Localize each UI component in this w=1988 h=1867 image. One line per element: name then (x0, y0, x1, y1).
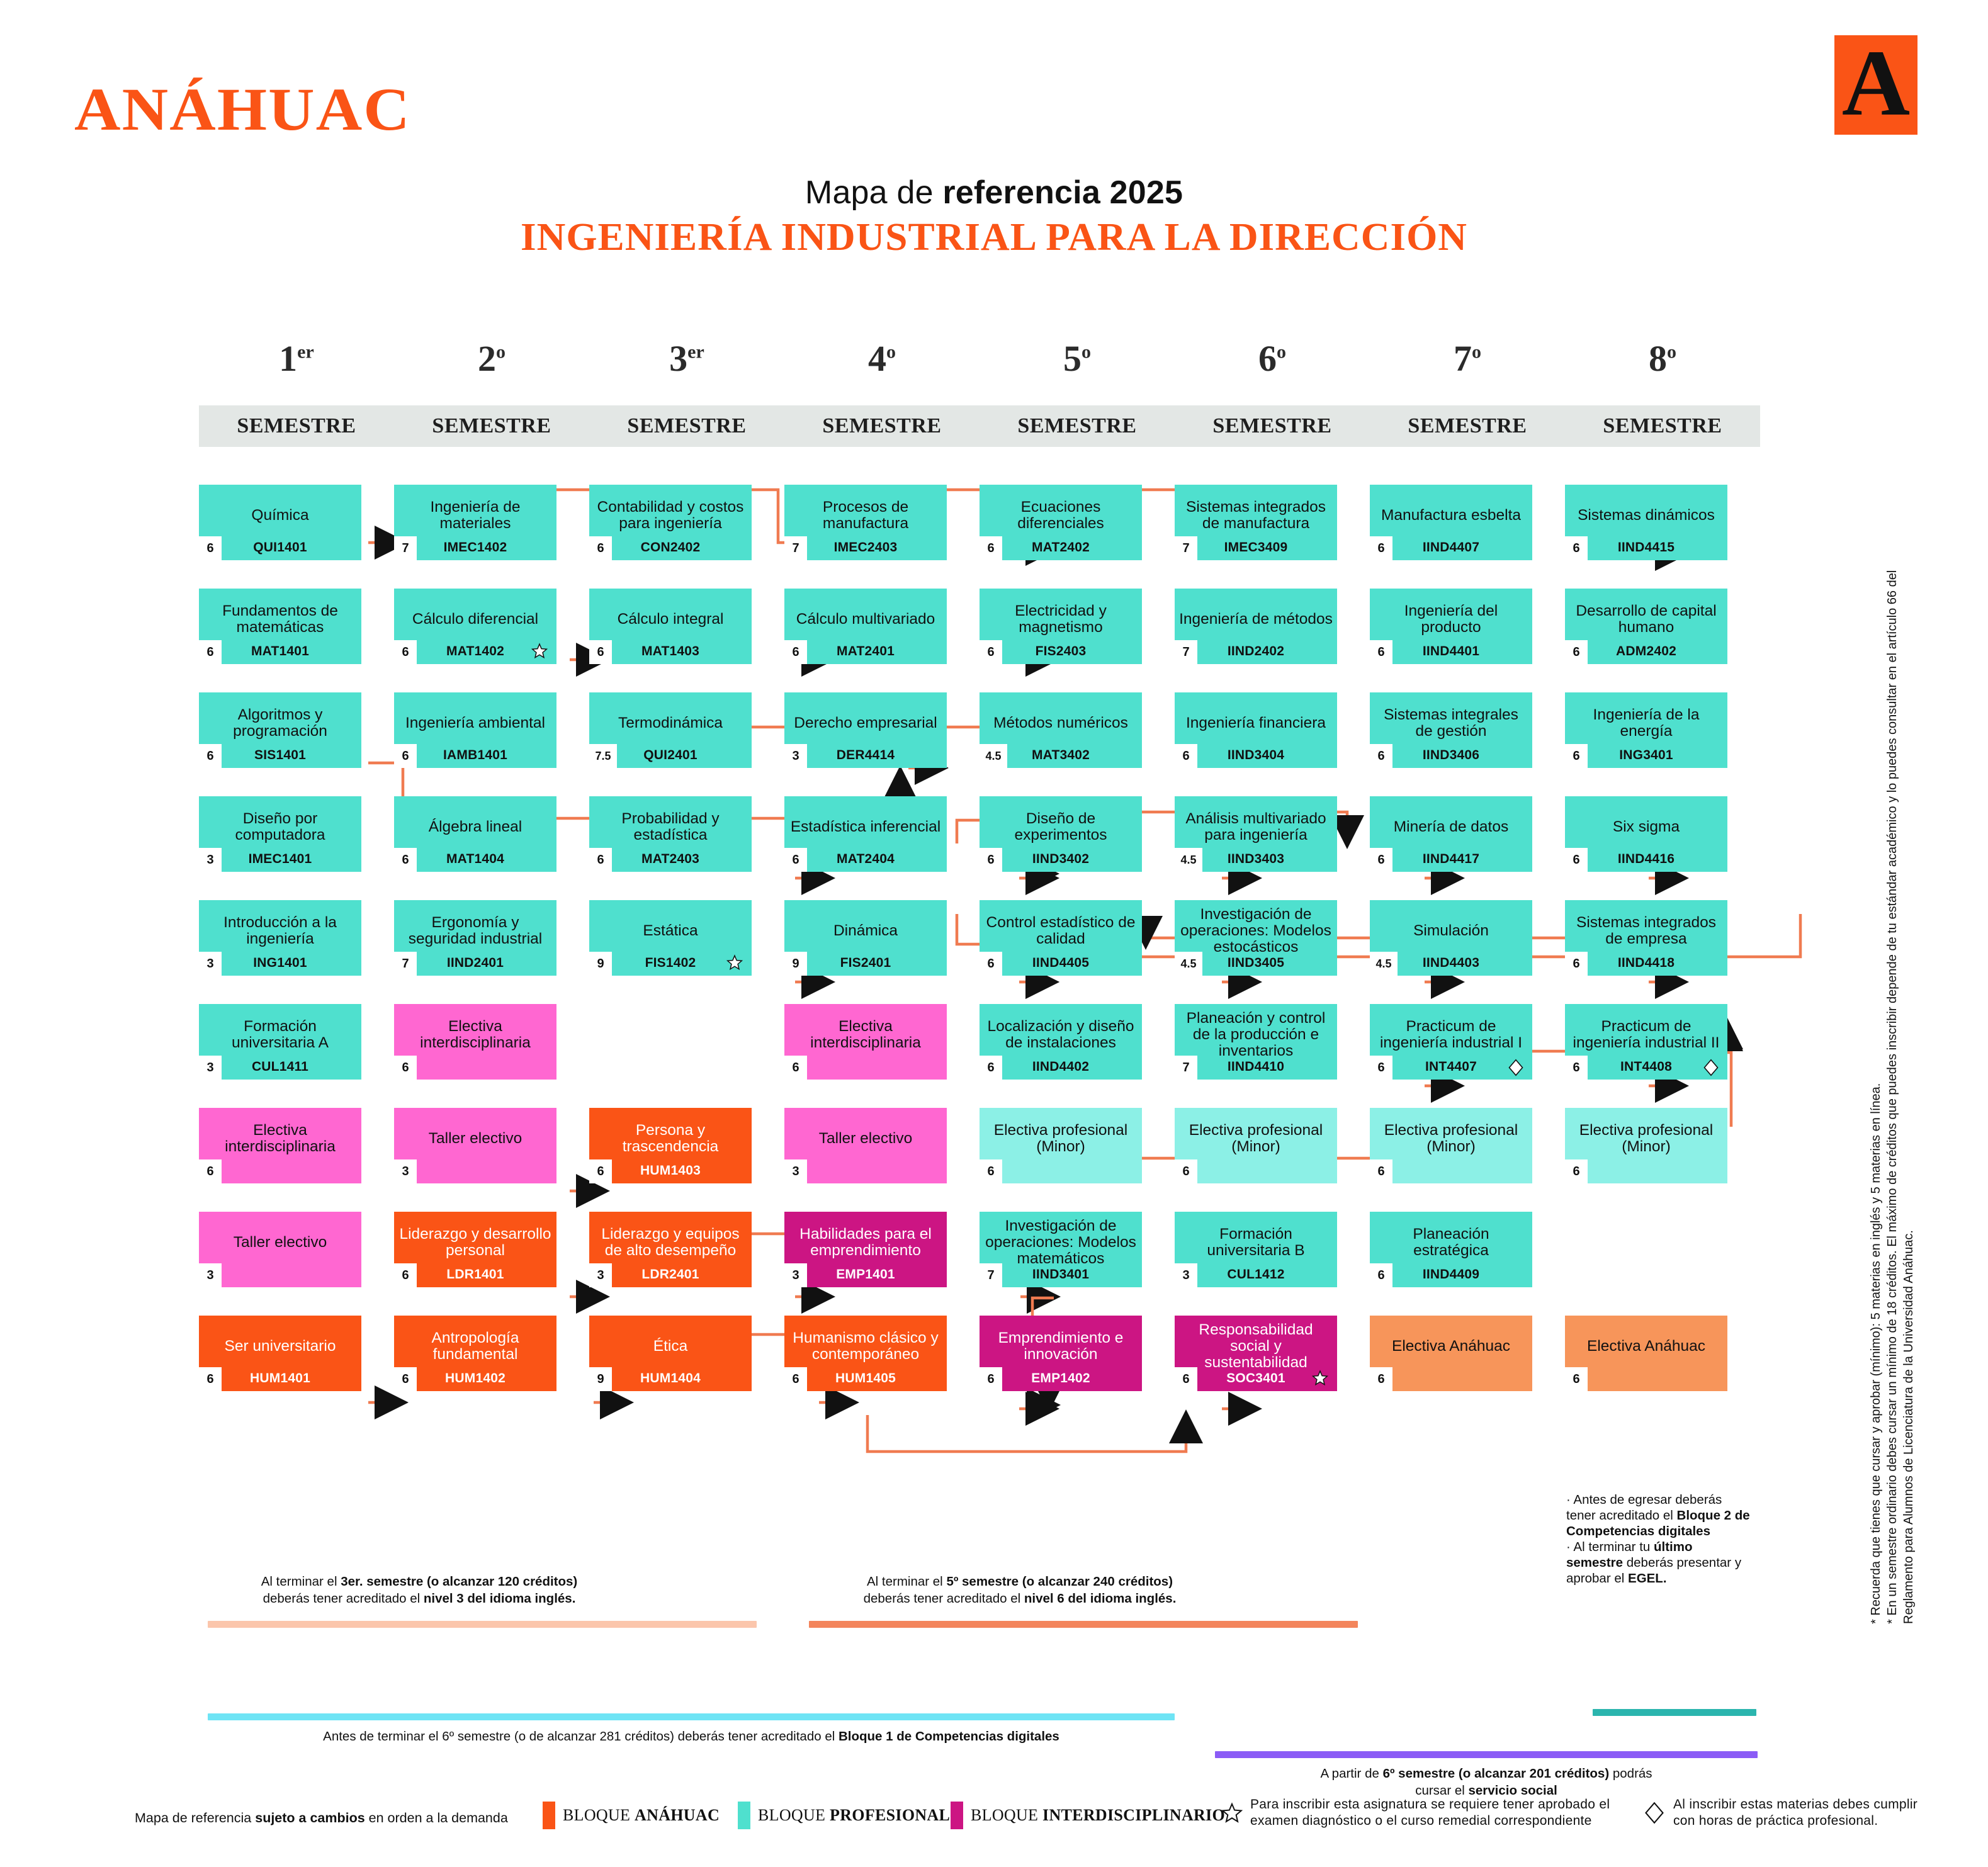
course-card-imec2403[interactable]: Procesos de manufacturaIMEC24037 (784, 485, 947, 560)
legend-diamond-text: Al inscribir estas materias debes cumpli… (1673, 1796, 1917, 1829)
course-credits: 6 (1175, 744, 1197, 768)
course-name: Sistemas integrados de manufactura (1178, 499, 1333, 532)
title-subtitle-bold: referencia 2025 (942, 174, 1183, 211)
semester-label-4: SEMESTRE (784, 405, 980, 447)
course-card-emp1401[interactable]: Habilidades para el emprendimientoEMP140… (784, 1212, 947, 1287)
course-credits: 3 (784, 744, 807, 768)
course-code: IIND4401 (1370, 644, 1532, 659)
course-credits: 7 (1175, 536, 1197, 560)
course-card-iind4402[interactable]: Localización y diseño de instalacionesII… (980, 1004, 1142, 1080)
course-name: Probabilidad y estadística (593, 811, 748, 843)
semester-number-value: 7 (1454, 338, 1472, 379)
course-card-iind4401[interactable]: Ingeniería del productoIIND44016 (1370, 589, 1532, 664)
course-code: MAT2402 (980, 540, 1142, 555)
legend-item-1: BLOQUE PROFESIONAL (738, 1802, 950, 1829)
course-card-iind2402[interactable]: Ingeniería de métodosIIND24027 (1175, 589, 1337, 664)
course-code: IIND2401 (394, 956, 556, 971)
legend-label-bold: INTERDISCIPLINARIO (1042, 1806, 1225, 1824)
course-card-iind4409[interactable]: Planeación estratégicaIIND44096 (1370, 1212, 1532, 1287)
course-credits: 6 (784, 1367, 807, 1391)
course-code: EMP1401 (784, 1267, 947, 1282)
course-code: CUL1412 (1175, 1267, 1337, 1282)
course-name: Practicum de ingeniería industrial I (1374, 1018, 1528, 1051)
course-credits: 3 (199, 1263, 222, 1287)
course-card-hum1404[interactable]: ÉticaHUM14049 (589, 1316, 752, 1391)
semester-number-1: 1er (199, 337, 394, 380)
course-code: LDR1401 (394, 1267, 556, 1282)
course-credits: 6 (980, 536, 1002, 560)
course-name: Ingeniería del producto (1374, 603, 1528, 636)
digital-block1-note: Antes de terminar el 6º semestre (o de a… (208, 1729, 1175, 1746)
course-code: CON2402 (589, 540, 752, 555)
semester-number-value: 4 (868, 338, 886, 379)
course-credits: 6 (589, 1159, 612, 1183)
course-card-electiva[interactable]: Electiva interdisciplinaria6 (394, 1004, 556, 1080)
course-credits: 7.5 (589, 744, 617, 768)
course-code: IIND3404 (1175, 748, 1337, 763)
course-card-emp1402[interactable]: Emprendimiento e innovaciónEMP14026 (980, 1316, 1142, 1391)
course-credits: 6 (784, 640, 807, 664)
course-name: Antropología fundamental (398, 1330, 553, 1363)
logo-letter: A (1842, 36, 1910, 130)
course-card-con2402[interactable]: Contabilidad y costos para ingenieríaCON… (589, 485, 752, 560)
servicio-social-bar (1215, 1751, 1758, 1758)
course-credits: 6 (589, 640, 612, 664)
course-card-ing3401[interactable]: Ingeniería de la energíaING34016 (1565, 692, 1727, 768)
egel-b2-plain: · Al terminar tu (1566, 1540, 1654, 1554)
anahuac-logo: A (1834, 35, 1917, 135)
course-code: IIND3401 (980, 1267, 1142, 1282)
semester-number-7: 7o (1370, 337, 1565, 380)
course-name: Manufactura esbelta (1374, 507, 1528, 524)
course-name: Diseño por computadora (203, 811, 358, 843)
course-card-cul1412[interactable]: Formación universitaria BCUL14123 (1175, 1212, 1337, 1287)
course-card-mat1402[interactable]: Cálculo diferencialMAT14026 (394, 589, 556, 664)
course-card-electiva[interactable]: Electiva profesional (Minor)6 (1175, 1108, 1337, 1183)
course-name: Estadística inferencial (788, 819, 943, 835)
course-name: Electricidad y magnetismo (983, 603, 1138, 636)
course-card-electiva[interactable]: Electiva Anáhuac6 (1565, 1316, 1727, 1391)
course-credits: 6 (1370, 640, 1392, 664)
course-card-qui2401[interactable]: TermodinámicaQUI24017.5 (589, 692, 752, 768)
course-credits: 6 (199, 1367, 222, 1391)
course-name: Ingeniería ambiental (398, 715, 553, 731)
course-card-electiva[interactable]: Taller electivo3 (199, 1212, 361, 1287)
course-name: Simulación (1374, 923, 1528, 939)
course-card-mat3402[interactable]: Métodos numéricosMAT34024.5 (980, 692, 1142, 768)
practice-hours-diamond-icon (1507, 1058, 1523, 1075)
semester-label-6: SEMESTRE (1175, 405, 1370, 447)
course-name: Six sigma (1569, 819, 1724, 835)
course-credits: 3 (199, 952, 222, 976)
course-credits: 6 (1175, 1367, 1197, 1391)
course-code: ADM2402 (1565, 644, 1727, 659)
course-name: Electiva interdisciplinaria (398, 1018, 553, 1051)
semester-label-5: SEMESTRE (980, 405, 1175, 447)
english6-line2-plain: deberás tener acreditado el (864, 1591, 1024, 1606)
course-code: MAT1401 (199, 644, 361, 659)
course-credits: 6 (199, 536, 222, 560)
vertical-note-line-1: * Recuerda que tienes que cursar y aprob… (1869, 1083, 1884, 1624)
course-credits: 6 (1565, 952, 1588, 976)
english3-line1-bold: 3er. semestre (o alcanzar 120 créditos) (341, 1574, 577, 1589)
course-credits: 6 (394, 1056, 417, 1080)
course-name: Ingeniería de materiales (398, 499, 553, 532)
course-card-iind4418[interactable]: Sistemas integrados de empresaIIND44186 (1565, 900, 1727, 976)
course-code: FIS2403 (980, 644, 1142, 659)
course-credits: 6 (1565, 744, 1588, 768)
course-credits: 6 (1370, 1367, 1392, 1391)
course-name: Electiva interdisciplinaria (203, 1122, 358, 1155)
digital1-plain: Antes de terminar el 6º semestre (o de a… (323, 1729, 839, 1744)
course-credits: 6 (1370, 1159, 1392, 1183)
course-credits: 6 (1370, 1263, 1392, 1287)
semester-ordinal-suffix: o (1667, 342, 1676, 363)
course-card-hum1402[interactable]: Antropología fundamentalHUM14026 (394, 1316, 556, 1391)
semester-ordinal-suffix: er (687, 342, 704, 363)
course-name: Taller electivo (203, 1234, 358, 1251)
course-credits: 6 (784, 1056, 807, 1080)
course-card-ing1401[interactable]: Introducción a la ingenieríaING14013 (199, 900, 361, 976)
course-code: IIND3402 (980, 852, 1142, 867)
semester-ordinal-suffix: o (886, 342, 896, 363)
semester-number-6: 6o (1175, 337, 1370, 380)
course-code: MAT1404 (394, 852, 556, 867)
legend-label-plain: BLOQUE (758, 1806, 830, 1824)
course-code: HUM1403 (589, 1163, 752, 1178)
course-card-electiva[interactable]: Taller electivo3 (784, 1108, 947, 1183)
legend-item-0: BLOQUE ANÁHUAC (543, 1802, 720, 1829)
servicio-line1-tail: podrás (1609, 1766, 1652, 1781)
course-code: IIND4416 (1565, 852, 1727, 867)
course-name: Algoritmos y programación (203, 707, 358, 740)
semester-ordinal-suffix: o (1277, 342, 1286, 363)
legend-item-2: BLOQUE INTERDISCIPLINARIO (951, 1802, 1225, 1829)
course-card-electiva[interactable]: Electiva profesional (Minor)6 (1565, 1108, 1727, 1183)
course-name: Electiva profesional (Minor) (1374, 1122, 1528, 1155)
course-name: Taller electivo (788, 1131, 943, 1147)
practice-hours-diamond-icon (1702, 1058, 1719, 1075)
course-card-iind4417[interactable]: Minería de datosIIND44176 (1370, 796, 1532, 872)
course-name: Electiva profesional (Minor) (1178, 1122, 1333, 1155)
course-code: IIND4418 (1565, 956, 1727, 971)
legend-star-note: Para inscribir esta asignatura se requie… (1221, 1796, 1610, 1829)
course-card-iind3406[interactable]: Sistemas integrales de gestiónIIND34066 (1370, 692, 1532, 768)
course-code: HUM1402 (394, 1371, 556, 1386)
course-name: Ergonomía y seguridad industrial (398, 915, 553, 947)
course-credits: 6 (589, 848, 612, 872)
course-card-qui1401[interactable]: QuímicaQUI14016 (199, 485, 361, 560)
course-name: Sistemas integrales de gestión (1374, 707, 1528, 740)
semester-number-value: 3 (669, 338, 687, 379)
course-card-mat2402[interactable]: Ecuaciones diferencialesMAT24026 (980, 485, 1142, 560)
legend-star-text: Para inscribir esta asignatura se requie… (1250, 1796, 1610, 1829)
course-card-iind4416[interactable]: Six sigmaIIND44166 (1565, 796, 1727, 872)
course-name: Cálculo multivariado (788, 611, 943, 628)
course-name: Fundamentos de matemáticas (203, 603, 358, 636)
course-credits: 4.5 (1175, 952, 1202, 976)
course-code: IIND4402 (980, 1059, 1142, 1075)
legend-label-bold: ANÁHUAC (635, 1806, 720, 1824)
course-credits: 3 (394, 1159, 417, 1183)
course-code: IMEC2403 (784, 540, 947, 555)
course-card-fis2401[interactable]: DinámicaFIS24019 (784, 900, 947, 976)
course-card-hum1401[interactable]: Ser universitarioHUM14016 (199, 1316, 361, 1391)
course-name: Sistemas dinámicos (1569, 507, 1724, 524)
semester-ordinal-suffix: o (496, 342, 505, 363)
servicio-line2-bold: servicio social (1469, 1783, 1557, 1798)
course-card-mat1403[interactable]: Cálculo integralMAT14036 (589, 589, 752, 664)
course-code: ING1401 (199, 956, 361, 971)
course-code: MAT2403 (589, 852, 752, 867)
course-credits: 3 (784, 1263, 807, 1287)
course-code: IIND2402 (1175, 644, 1337, 659)
course-credits: 6 (1565, 1159, 1588, 1183)
course-credits: 6 (394, 640, 417, 664)
course-code: IAMB1401 (394, 748, 556, 763)
course-credits: 6 (1565, 536, 1588, 560)
semester-number-4: 4o (784, 337, 980, 380)
course-card-electiva[interactable]: Electiva interdisciplinaria6 (784, 1004, 947, 1080)
course-card-hum1403[interactable]: Persona y trascendenciaHUM14036 (589, 1108, 752, 1183)
course-card-soc3401[interactable]: Responsabilidad social y sustentabilidad… (1175, 1316, 1337, 1391)
legend-swatch (738, 1802, 750, 1829)
semester-numbers: 1er2o3er4o5o6o7o8o (199, 337, 1760, 388)
course-name: Ingeniería de la energía (1569, 707, 1724, 740)
course-code: IMEC1401 (199, 852, 361, 867)
course-card-iind4403[interactable]: SimulaciónIIND44034.5 (1370, 900, 1532, 976)
title-program: INGENIERÍA INDUSTRIAL PARA LA DIRECCIÓN (0, 215, 1988, 260)
course-card-adm2402[interactable]: Desarrollo de capital humanoADM24026 (1565, 589, 1727, 664)
semester-number-value: 8 (1649, 338, 1667, 379)
course-code: HUM1404 (589, 1371, 752, 1386)
digital-block1-bar (208, 1713, 1175, 1720)
course-card-mat2404[interactable]: Estadística inferencialMAT24046 (784, 796, 947, 872)
servicio-line1-plain: A partir de (1320, 1766, 1382, 1781)
course-code: FIS2401 (784, 956, 947, 971)
course-name: Liderazgo y desarrollo personal (398, 1226, 553, 1259)
course-card-iind4407[interactable]: Manufactura esbeltaIIND44076 (1370, 485, 1532, 560)
course-name: Planeación y control de la producción e … (1178, 1010, 1333, 1059)
course-card-ldr2401[interactable]: Liderazgo y equipos de alto desempeñoLDR… (589, 1212, 752, 1287)
course-credits: 6 (199, 744, 222, 768)
course-name: Electiva Anáhuac (1569, 1338, 1724, 1355)
course-card-ldr1401[interactable]: Liderazgo y desarrollo personalLDR14016 (394, 1212, 556, 1287)
academic-standard-disclaimer: * Recuerda que tienes que cursar y aprob… (1884, 327, 1959, 1624)
course-code: EMP1402 (980, 1371, 1142, 1386)
semester-number-2: 2o (394, 337, 589, 380)
course-name: Diseño de experimentos (983, 811, 1138, 843)
course-card-electiva[interactable]: Electiva profesional (Minor)6 (1370, 1108, 1532, 1183)
course-credits: 6 (980, 848, 1002, 872)
course-card-iind4410[interactable]: Planeación y control de la producción e … (1175, 1004, 1337, 1080)
course-name: Electiva profesional (Minor) (1569, 1122, 1724, 1155)
course-name: Responsabilidad social y sustentabilidad (1178, 1322, 1333, 1371)
course-card-der4414[interactable]: Derecho empresarialDER44143 (784, 692, 947, 768)
digital1-bold: Bloque 1 de Competencias digitales (839, 1729, 1059, 1744)
course-card-sis1401[interactable]: Algoritmos y programaciónSIS14016 (199, 692, 361, 768)
course-credits: 4.5 (980, 744, 1007, 768)
english3-line2-plain: deberás tener acreditado el (263, 1591, 424, 1606)
course-name: Minería de datos (1374, 819, 1528, 835)
course-name: Dinámica (788, 923, 943, 939)
course-code: MAT1403 (589, 644, 752, 659)
course-card-iind3401[interactable]: Investigación de operaciones: Modelos ma… (980, 1212, 1142, 1287)
course-card-mat2401[interactable]: Cálculo multivariadoMAT24016 (784, 589, 947, 664)
course-credits: 6 (980, 1056, 1002, 1080)
course-name: Electiva Anáhuac (1374, 1338, 1528, 1355)
course-name: Desarrollo de capital humano (1569, 603, 1724, 636)
course-credits: 4.5 (1370, 952, 1398, 976)
course-card-cul1411[interactable]: Formación universitaria ACUL14113 (199, 1004, 361, 1080)
course-name: Persona y trascendencia (593, 1122, 748, 1155)
course-card-int4407[interactable]: Practicum de ingeniería industrial IINT4… (1370, 1004, 1532, 1080)
course-credits: 6 (980, 952, 1002, 976)
english3-line2-bold: nivel 3 del idioma inglés. (424, 1591, 576, 1606)
course-card-iind3404[interactable]: Ingeniería financieraIIND34046 (1175, 692, 1337, 768)
course-card-iind3405[interactable]: Investigación de operaciones: Modelos es… (1175, 900, 1337, 976)
course-card-mat1401[interactable]: Fundamentos de matemáticasMAT14016 (199, 589, 361, 664)
course-card-mat1404[interactable]: Álgebra linealMAT14046 (394, 796, 556, 872)
course-name: Estática (593, 923, 748, 939)
course-card-iind3403[interactable]: Análisis multivariado para ingenieríaIIN… (1175, 796, 1337, 872)
semester-ordinal-suffix: o (1082, 342, 1091, 363)
course-credits: 6 (980, 1159, 1002, 1183)
course-credits: 6 (1175, 1159, 1197, 1183)
course-name: Contabilidad y costos para ingeniería (593, 499, 748, 532)
course-credits: 6 (199, 640, 222, 664)
semester-number-value: 6 (1258, 338, 1277, 379)
course-card-fis2403[interactable]: Electricidad y magnetismoFIS24036 (980, 589, 1142, 664)
course-code: IIND4415 (1565, 540, 1727, 555)
course-code: ING3401 (1565, 748, 1727, 763)
course-card-imec1401[interactable]: Diseño por computadoraIMEC14013 (199, 796, 361, 872)
course-name: Ecuaciones diferenciales (983, 499, 1138, 532)
course-credits: 6 (1370, 744, 1392, 768)
course-credits: 3 (784, 1159, 807, 1183)
course-code: MAT2404 (784, 852, 947, 867)
course-card-electiva[interactable]: Electiva profesional (Minor)6 (980, 1108, 1142, 1183)
course-card-electiva[interactable]: Taller electivo3 (394, 1108, 556, 1183)
course-card-electiva[interactable]: Electiva interdisciplinaria6 (199, 1108, 361, 1183)
course-code: IIND3406 (1370, 748, 1532, 763)
course-card-electiva[interactable]: Electiva Anáhuac6 (1370, 1316, 1532, 1391)
course-credits: 6 (394, 848, 417, 872)
course-name: Investigación de operaciones: Modelos ma… (983, 1218, 1138, 1267)
egel-b2-bold2: EGEL. (1628, 1571, 1667, 1586)
legend-star-line2: examen diagnóstico o el curso remedial c… (1250, 1813, 1592, 1828)
legend: BLOQUE ANÁHUACBLOQUE PROFESIONALBLOQUE I… (0, 1800, 1988, 1851)
course-name: Ingeniería de métodos (1178, 611, 1333, 628)
semester-number-5: 5o (980, 337, 1175, 380)
course-credits: 4.5 (1175, 848, 1202, 872)
course-credits: 3 (1175, 1263, 1197, 1287)
legend-label: BLOQUE PROFESIONAL (758, 1806, 950, 1825)
course-card-fis1402[interactable]: EstáticaFIS14029 (589, 900, 752, 976)
course-code: IIND4405 (980, 956, 1142, 971)
english-level3-bar (208, 1621, 757, 1628)
course-credits: 6 (394, 1263, 417, 1287)
servicio-social-note: A partir de 6º semestre (o alcanzar 201 … (1215, 1766, 1758, 1799)
course-credits: 9 (784, 952, 807, 976)
course-credits: 6 (1565, 848, 1588, 872)
course-credits: 6 (1565, 1056, 1588, 1080)
semester-label-8: SEMESTRE (1565, 405, 1760, 447)
english3-line1-plain: Al terminar el (261, 1574, 341, 1589)
course-card-iind4415[interactable]: Sistemas dinámicosIIND44156 (1565, 485, 1727, 560)
english-level6-note: Al terminar el 5º semestre (o alcanzar 2… (799, 1574, 1240, 1607)
course-code: DER4414 (784, 748, 947, 763)
course-card-iind3402[interactable]: Diseño de experimentosIIND34026 (980, 796, 1142, 872)
course-name: Control estadístico de calidad (983, 915, 1138, 947)
legend-swatch (951, 1802, 963, 1829)
english6-line1-plain: Al terminar el (867, 1574, 946, 1589)
course-credits: 3 (199, 848, 222, 872)
course-name: Formación universitaria A (203, 1018, 358, 1051)
course-credits: 6 (1565, 1367, 1588, 1391)
course-name: Humanismo clásico y contemporáneo (788, 1330, 943, 1363)
course-credits: 6 (980, 1367, 1002, 1391)
servicio-line2-plain: cursar el (1415, 1783, 1468, 1798)
course-code: MAT2401 (784, 644, 947, 659)
course-card-imec1402[interactable]: Ingeniería de materialesIMEC14027 (394, 485, 556, 560)
servicio-line1-bold: 6º semestre (o alcanzar 201 créditos) (1383, 1766, 1610, 1781)
course-card-hum1405[interactable]: Humanismo clásico y contemporáneoHUM1405… (784, 1316, 947, 1391)
course-card-iind2401[interactable]: Ergonomía y seguridad industrialIIND2401… (394, 900, 556, 976)
course-code: HUM1405 (784, 1371, 947, 1386)
course-code: IIND4410 (1175, 1059, 1337, 1075)
course-credits: 7 (980, 1263, 1002, 1287)
course-credits: 9 (589, 1367, 612, 1391)
course-name: Cálculo integral (593, 611, 748, 628)
course-name: Ética (593, 1338, 748, 1355)
digital-block2-bar (1593, 1709, 1756, 1716)
course-card-mat2403[interactable]: Probabilidad y estadísticaMAT24036 (589, 796, 752, 872)
vertical-note-line-2: * En un semestre ordinario debes cursar … (1885, 570, 1900, 1624)
course-card-imec3409[interactable]: Sistemas integrados de manufacturaIMEC34… (1175, 485, 1337, 560)
course-credits: 6 (784, 848, 807, 872)
diagnostic-exam-star-icon (531, 643, 548, 659)
semester-label-2: SEMESTRE (394, 405, 589, 447)
course-code: IMEC1402 (394, 540, 556, 555)
legend-swatch (543, 1802, 555, 1829)
course-card-int4408[interactable]: Practicum de ingeniería industrial IIINT… (1565, 1004, 1727, 1080)
legend-diamond-note: Al inscribir estas materias debes cumpli… (1643, 1796, 1917, 1829)
course-credits: 6 (394, 1367, 417, 1391)
course-credits: 6 (1370, 1056, 1392, 1080)
legend-diamond-line1: Al inscribir estas materias debes cumpli… (1673, 1797, 1917, 1812)
course-name: Análisis multivariado para ingeniería (1178, 811, 1333, 843)
course-name: Investigación de operaciones: Modelos es… (1178, 906, 1333, 956)
course-card-iamb1401[interactable]: Ingeniería ambientalIAMB14016 (394, 692, 556, 768)
course-credits: 6 (589, 536, 612, 560)
course-credits: 6 (1370, 848, 1392, 872)
course-name: Procesos de manufactura (788, 499, 943, 532)
course-credits: 7 (1175, 640, 1197, 664)
semester-number-value: 1 (279, 338, 297, 379)
course-credits: 9 (589, 952, 612, 976)
semester-ordinal-suffix: er (297, 342, 314, 363)
course-card-iind4405[interactable]: Control estadístico de calidadIIND44056 (980, 900, 1142, 976)
course-name: Sistemas integrados de empresa (1569, 915, 1724, 947)
course-name: Ingeniería financiera (1178, 715, 1333, 731)
course-code: IIND4407 (1370, 540, 1532, 555)
title-subtitle: Mapa de referencia 2025 (0, 174, 1988, 212)
course-name: Álgebra lineal (398, 819, 553, 835)
course-name: Formación universitaria B (1178, 1226, 1333, 1259)
course-credits: 3 (589, 1263, 612, 1287)
course-credits: 6 (394, 744, 417, 768)
